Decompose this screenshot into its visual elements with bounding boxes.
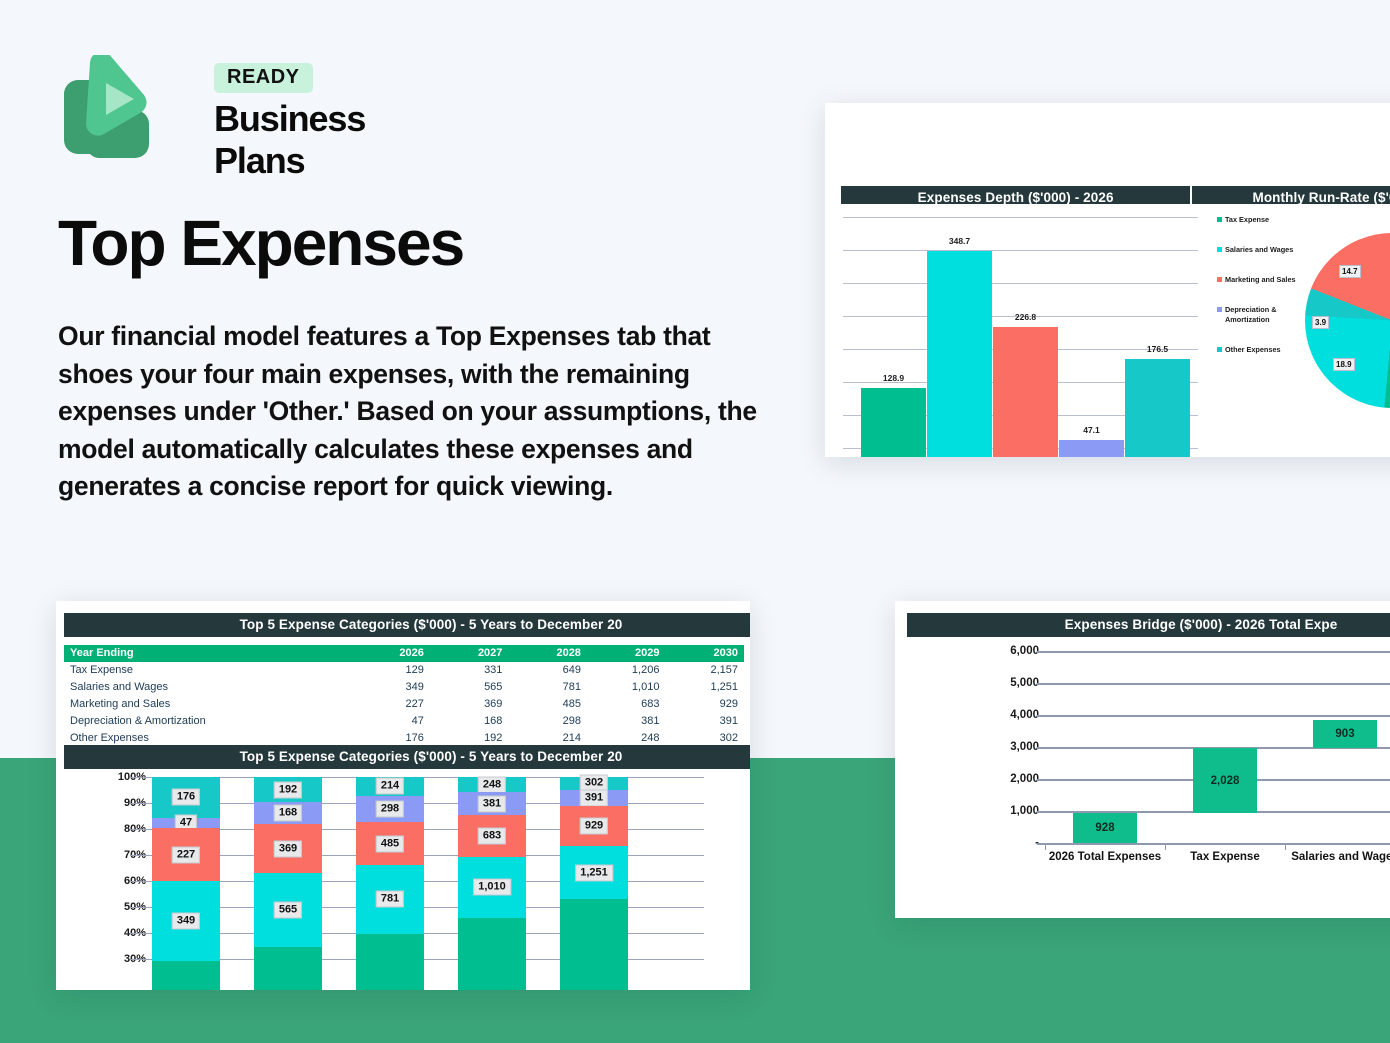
table-cell-1-3: 1,010 bbox=[587, 679, 666, 696]
stacked-column-2030: 3023919291,251 bbox=[560, 777, 628, 990]
stacked-segment-marketing-and-sales: 683 bbox=[458, 815, 526, 856]
table-cell-2-0: 227 bbox=[357, 696, 429, 713]
stacked-column-2029: 2483816831,010 bbox=[458, 777, 526, 990]
depth-bar-value-1: 348.7 bbox=[949, 236, 970, 246]
table-cell-3-1: 168 bbox=[430, 713, 509, 730]
depth-bar-0: 128.9 bbox=[861, 388, 926, 457]
stacked-segment-tax-expense bbox=[254, 947, 322, 990]
table-row: Depreciation & Amortization4716829838139… bbox=[64, 713, 744, 730]
stacked-column-2028: 214298485781 bbox=[356, 777, 424, 990]
table-row-label: Depreciation & Amortization bbox=[64, 713, 357, 730]
stacked-value-label: 381 bbox=[478, 795, 506, 812]
table-cell-1-0: 349 bbox=[357, 679, 429, 696]
top-expense-categories-card: Top 5 Expense Categories ($'000) - 5 Yea… bbox=[56, 601, 750, 990]
depth-bar-value-4: 176.5 bbox=[1147, 344, 1168, 354]
depth-bar-1: 348.7 bbox=[927, 251, 992, 457]
stacked-segment-depreciation-amortization: 381 bbox=[458, 792, 526, 815]
stacked-segment-tax-expense bbox=[356, 934, 424, 990]
monthly-run-rate-title: Monthly Run-Rate ($'000) - bbox=[1192, 186, 1390, 204]
table-col-2: 2027 bbox=[430, 645, 509, 662]
waterfall-bar-2: 903 bbox=[1313, 720, 1377, 749]
table-cell-3-0: 47 bbox=[357, 713, 429, 730]
page-title: Top Expenses bbox=[58, 206, 463, 280]
stacked-value-label: 391 bbox=[580, 790, 608, 807]
table-cell-1-4: 1,251 bbox=[665, 679, 744, 696]
stacked-bar-chart: 100%90%80%70%60%50%40%30% 17647227349192… bbox=[152, 777, 682, 990]
waterfall-ytick-5: 1,000 bbox=[1010, 805, 1039, 817]
table-row: Tax Expense1293316491,2062,157 bbox=[64, 662, 744, 679]
waterfall-ytick-1: 5,000 bbox=[1010, 677, 1039, 689]
table-cell-2-1: 369 bbox=[430, 696, 509, 713]
stacked-segment-marketing-and-sales: 369 bbox=[254, 824, 322, 873]
table-col-5: 2030 bbox=[665, 645, 744, 662]
waterfall-value-0: 928 bbox=[1095, 822, 1114, 834]
table-cell-1-1: 565 bbox=[430, 679, 509, 696]
waterfall-ytick-2: 4,000 bbox=[1010, 709, 1039, 721]
stacked-segment-marketing-and-sales: 485 bbox=[356, 822, 424, 865]
stacked-value-label: 298 bbox=[376, 801, 404, 818]
table-row-label: Marketing and Sales bbox=[64, 696, 357, 713]
depth-legend-item-1: Salaries and Wages bbox=[1217, 245, 1317, 255]
stacked-value-label: 565 bbox=[274, 902, 302, 919]
waterfall-ytick-4: 2,000 bbox=[1010, 773, 1039, 785]
waterfall-value-1: 2,028 bbox=[1211, 775, 1240, 787]
stacked-value-label: 168 bbox=[274, 805, 302, 822]
waterfall-categories: 2026 Total ExpensesTax ExpenseSalaries a… bbox=[1045, 851, 1390, 871]
pie-label-4: 14.7 bbox=[1339, 265, 1361, 278]
depth-legend-item-0: Tax Expense bbox=[1217, 215, 1317, 225]
bridge-title: Expenses Bridge ($'000) - 2026 Total Exp… bbox=[907, 613, 1390, 637]
stacked-value-label: 369 bbox=[274, 840, 302, 857]
depth-bar-4: 176.5 bbox=[1125, 359, 1190, 457]
monthly-run-rate-pie: 10.7 14.7 3.9 18.9 bbox=[1305, 233, 1390, 408]
stacked-segment-salaries-and-wages: 781 bbox=[356, 865, 424, 934]
stacked-segment-depreciation-amortization: 47 bbox=[152, 818, 220, 829]
stacked-column-2026: 17647227349 bbox=[152, 777, 220, 990]
expenses-depth-chart: 128.9348.7226.847.1176.5 bbox=[843, 213, 1198, 457]
table-col-1: 2026 bbox=[357, 645, 429, 662]
stacked-y-axis: 100%90%80%70%60%50%40%30% bbox=[96, 777, 146, 967]
waterfall-value-2: 903 bbox=[1335, 728, 1354, 740]
brand-logo: READY Business Plans bbox=[56, 55, 436, 160]
waterfall-category-0: 2026 Total Expenses bbox=[1049, 851, 1161, 863]
stacked-chart-title: Top 5 Expense Categories ($'000) - 5 Yea… bbox=[64, 745, 750, 769]
stacked-value-label: 227 bbox=[172, 846, 200, 863]
stacked-segment-depreciation-amortization: 298 bbox=[356, 796, 424, 822]
table-row: Marketing and Sales227369485683929 bbox=[64, 696, 744, 713]
table-title: Top 5 Expense Categories ($'000) - 5 Yea… bbox=[64, 613, 750, 637]
stacked-segment-salaries-and-wages: 1,251 bbox=[560, 846, 628, 899]
depth-legend-item-3: Depreciation & Amortization bbox=[1217, 305, 1317, 324]
stacked-value-label: 248 bbox=[478, 776, 506, 793]
waterfall-y-axis: 6,0005,0004,0003,0002,0001,000- bbox=[949, 651, 1039, 843]
waterfall-ytick-3: 3,000 bbox=[1010, 741, 1039, 753]
pie-label-2: 18.9 bbox=[1333, 358, 1355, 371]
table-cell-0-3: 1,206 bbox=[587, 662, 666, 679]
pie-label-3: 3.9 bbox=[1312, 316, 1329, 329]
depth-bar-value-2: 226.8 bbox=[1015, 312, 1036, 322]
table-cell-2-2: 485 bbox=[508, 696, 587, 713]
table-col-0: Year Ending bbox=[64, 645, 357, 662]
table-cell-3-2: 298 bbox=[508, 713, 587, 730]
depth-bar-3: 47.1 bbox=[1059, 440, 1124, 457]
expenses-bridge-card: Expenses Bridge ($'000) - 2026 Total Exp… bbox=[895, 601, 1390, 918]
depth-bars: 128.9348.7226.847.1176.5 bbox=[861, 217, 1198, 457]
depth-legend-item-2: Marketing and Sales bbox=[1217, 275, 1317, 285]
slide-canvas: READY Business Plans Top Expenses Our fi… bbox=[0, 0, 1390, 1043]
stacked-value-label: 349 bbox=[172, 913, 200, 930]
stacked-segment-depreciation-amortization: 168 bbox=[254, 802, 322, 824]
stacked-segment-tax-expense bbox=[560, 899, 628, 990]
stacked-segment-salaries-and-wages: 349 bbox=[152, 881, 220, 961]
table-cell-3-3: 381 bbox=[587, 713, 666, 730]
stacked-segment-marketing-and-sales: 227 bbox=[152, 828, 220, 880]
depth-bar-value-3: 47.1 bbox=[1083, 425, 1100, 435]
table-cell-3-4: 391 bbox=[665, 713, 744, 730]
waterfall-ytick-0: 6,000 bbox=[1010, 645, 1039, 657]
table-col-4: 2029 bbox=[587, 645, 666, 662]
table-cell-0-4: 2,157 bbox=[665, 662, 744, 679]
depth-bar-2: 226.8 bbox=[993, 327, 1058, 457]
stacked-value-label: 192 bbox=[274, 781, 302, 798]
stacked-segment-other-expenses: 176 bbox=[152, 777, 220, 818]
table-row: Salaries and Wages3495657811,0101,251 bbox=[64, 679, 744, 696]
stacked-segment-salaries-and-wages: 1,010 bbox=[458, 857, 526, 918]
waterfall-chart: 6,0005,0004,0003,0002,0001,000- 9282,028… bbox=[1045, 651, 1390, 883]
depth-bar-value-0: 128.9 bbox=[883, 373, 904, 383]
stacked-value-label: 781 bbox=[376, 891, 404, 908]
table-col-3: 2028 bbox=[508, 645, 587, 662]
table-header-row: Year Ending20262027202820292030 bbox=[64, 645, 744, 662]
table-row-label: Salaries and Wages bbox=[64, 679, 357, 696]
stacked-segment-other-expenses: 248 bbox=[458, 777, 526, 792]
table-cell-0-0: 129 bbox=[357, 662, 429, 679]
stacked-segment-marketing-and-sales: 929 bbox=[560, 806, 628, 846]
waterfall-bar-1: 2,028 bbox=[1193, 748, 1257, 813]
table-cell-2-3: 683 bbox=[587, 696, 666, 713]
expenses-depth-card: Expenses Depth ($'000) - 2026 Monthly Ru… bbox=[825, 103, 1390, 457]
stacked-value-label: 485 bbox=[376, 835, 404, 852]
stacked-columns: 1764722734919216836956521429848578124838… bbox=[152, 777, 682, 990]
stacked-value-label: 176 bbox=[172, 789, 200, 806]
expenses-depth-title: Expenses Depth ($'000) - 2026 bbox=[841, 186, 1190, 204]
depth-legend: Tax ExpenseSalaries and WagesMarketing a… bbox=[1217, 215, 1317, 375]
table-cell-0-1: 331 bbox=[430, 662, 509, 679]
waterfall-bars: 9282,028903702 bbox=[1045, 651, 1390, 843]
stacked-column-2027: 192168369565 bbox=[254, 777, 322, 990]
stacked-value-label: 1,010 bbox=[473, 879, 511, 896]
stacked-value-label: 214 bbox=[376, 778, 404, 795]
depth-legend-item-4: Other Expenses bbox=[1217, 345, 1317, 355]
stacked-segment-tax-expense bbox=[458, 918, 526, 990]
stacked-segment-depreciation-amortization: 391 bbox=[560, 790, 628, 807]
ready-badge: READY bbox=[214, 63, 313, 93]
waterfall-category-1: Tax Expense bbox=[1190, 851, 1259, 863]
stacked-segment-tax-expense bbox=[152, 961, 220, 990]
hero-paragraph: Our financial model features a Top Expen… bbox=[58, 318, 758, 506]
table-row-label: Tax Expense bbox=[64, 662, 357, 679]
brand-name: Business Plans bbox=[214, 98, 436, 182]
stacked-value-label: 1,251 bbox=[575, 864, 613, 881]
stacked-value-label: 929 bbox=[580, 818, 608, 835]
table-cell-1-2: 781 bbox=[508, 679, 587, 696]
stacked-value-label: 683 bbox=[478, 827, 506, 844]
play-triangle-logo-icon bbox=[56, 55, 152, 158]
stacked-segment-other-expenses: 214 bbox=[356, 777, 424, 796]
stacked-segment-other-expenses: 192 bbox=[254, 777, 322, 802]
stacked-segment-salaries-and-wages: 565 bbox=[254, 873, 322, 947]
stacked-segment-other-expenses: 302 bbox=[560, 777, 628, 790]
table-cell-0-2: 649 bbox=[508, 662, 587, 679]
table-cell-2-4: 929 bbox=[665, 696, 744, 713]
waterfall-category-2: Salaries and Wages bbox=[1291, 851, 1390, 863]
waterfall-bar-0: 928 bbox=[1073, 813, 1137, 843]
